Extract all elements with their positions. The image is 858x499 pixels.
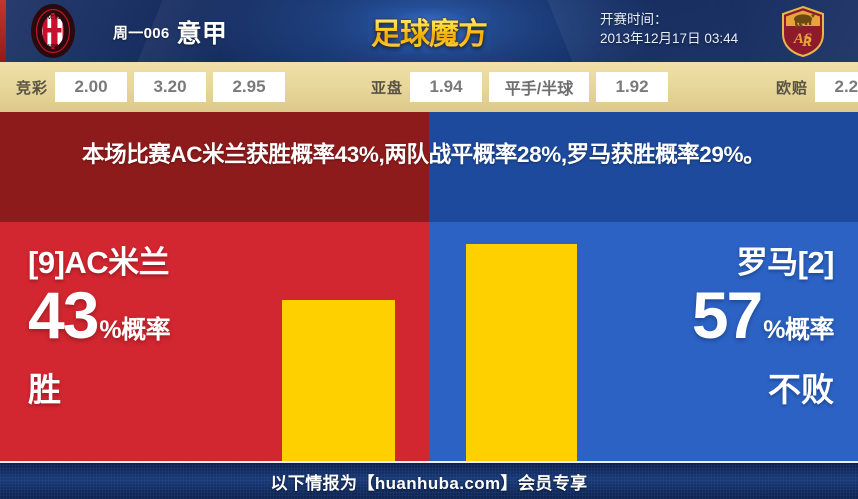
home-probability-unit: %概率 <box>99 316 170 344</box>
match-title: 周一006意甲 <box>113 14 227 50</box>
site-logo-text: 足球魔方 <box>371 9 487 53</box>
footer-text: 以下情报为【huanhuba.com】会员专享 <box>270 469 587 494</box>
odds-group-yapan: 亚盘 1.94 平手/半球 1.92 <box>371 62 675 112</box>
header-bar: ACM 1899 周一006意甲 足球魔方 开赛时间： 2013年12月17日 … <box>0 0 858 62</box>
svg-text:ACM: ACM <box>46 15 61 21</box>
as-roma-crest-icon: AS R <box>776 4 830 58</box>
odds-cell-home[interactable]: 2.27 <box>815 72 858 102</box>
site-logo: 足球魔方 <box>368 8 490 54</box>
probability-chart: [9]AC米兰 43%概率 胜 罗马[2] 57%概率 不败 <box>0 222 858 461</box>
kickoff-label: 开赛时间： <box>600 10 770 29</box>
odds-cell-handicap[interactable]: 平手/半球 <box>489 72 589 102</box>
odds-group-title: 欧赔 <box>776 77 808 98</box>
header-accent-strip <box>0 0 6 62</box>
odds-group-title: 亚盘 <box>371 77 403 98</box>
odds-cell-home[interactable]: 1.94 <box>410 72 482 102</box>
odds-cell-away[interactable]: 2.95 <box>213 72 285 102</box>
footer-bar: 以下情报为【huanhuba.com】会员专享 <box>0 463 858 499</box>
kickoff-value: 2013年12月17日 03:44 <box>600 29 770 48</box>
home-team-name: [9]AC米兰 <box>28 244 170 282</box>
ac-milan-crest-icon: ACM 1899 <box>26 4 80 58</box>
odds-bar: 竞彩 2.00 3.20 2.95 亚盘 1.94 平手/半球 1.92 欧赔 … <box>0 62 858 112</box>
home-probability-value: 43 <box>28 278 97 352</box>
odds-group-title: 竞彩 <box>16 77 48 98</box>
odds-group-jingcai: 竞彩 2.00 3.20 2.95 <box>16 62 292 112</box>
home-probability-bar <box>282 300 395 461</box>
match-preview-infographic: ACM 1899 周一006意甲 足球魔方 开赛时间： 2013年12月17日 … <box>0 0 858 499</box>
home-probability: 43%概率 <box>28 284 170 365</box>
odds-cell-away[interactable]: 1.92 <box>596 72 668 102</box>
odds-cell-home[interactable]: 2.00 <box>55 72 127 102</box>
away-probability-unit: %概率 <box>763 316 834 344</box>
away-team-name: 罗马[2] <box>692 244 834 282</box>
summary-band: 本场比赛AC米兰获胜概率43%,两队战平概率28%,罗马获胜概率29%。 <box>0 112 858 222</box>
away-probability: 57%概率 <box>692 284 834 365</box>
match-round: 周一006 <box>113 25 170 42</box>
away-probability-value: 57 <box>692 278 761 352</box>
home-team-info: [9]AC米兰 43%概率 胜 <box>28 244 170 411</box>
match-league: 意甲 <box>177 20 228 48</box>
svg-text:R: R <box>801 34 812 50</box>
away-probability-bar <box>466 244 577 461</box>
away-outcome-label: 不败 <box>692 369 834 411</box>
summary-text: 本场比赛AC米兰获胜概率43%,两队战平概率28%,罗马获胜概率29%。 <box>82 138 782 172</box>
odds-group-oupei: 欧赔 2.27 3.28 3.06 <box>776 62 858 112</box>
away-team-info: 罗马[2] 57%概率 不败 <box>692 244 834 411</box>
kickoff-info: 开赛时间： 2013年12月17日 03:44 <box>600 10 770 48</box>
odds-cell-draw[interactable]: 3.20 <box>134 72 206 102</box>
home-outcome-label: 胜 <box>28 369 170 411</box>
svg-text:1899: 1899 <box>48 44 59 50</box>
